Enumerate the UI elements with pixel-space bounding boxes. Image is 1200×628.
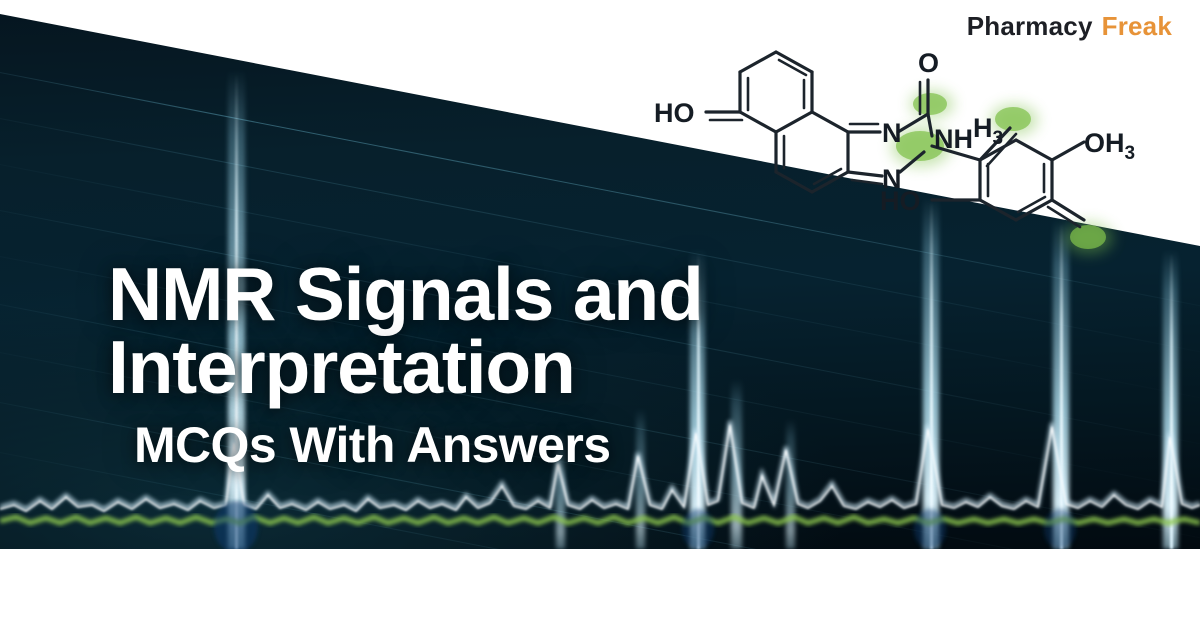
atom-label-methoxy-text: OH: [1084, 128, 1125, 158]
atom-label-methoxy: OH3: [1084, 128, 1135, 164]
atom-label-ho-left: HO: [654, 98, 695, 128]
atom-label-ho-lower: HO: [880, 186, 921, 216]
atom-label-nh-sup-sub: 3: [993, 128, 1004, 149]
spectrum-trace: [0, 399, 1200, 549]
atom-label-nh-text: NH: [934, 124, 973, 154]
atom-label-methoxy-sub: 3: [1125, 143, 1136, 164]
chemical-structure-diagram: HO N N O NHH3 HO OH3: [632, 36, 1192, 271]
atom-label-nh-sup-h: H: [973, 113, 993, 143]
atom-labels: HO N N O NHH3 HO OH3: [654, 48, 1135, 216]
atom-label-o-carbonyl: O: [918, 48, 939, 78]
promo-banner: PharmacyFreak: [0, 0, 1200, 628]
atom-label-n-top: N: [882, 118, 902, 148]
